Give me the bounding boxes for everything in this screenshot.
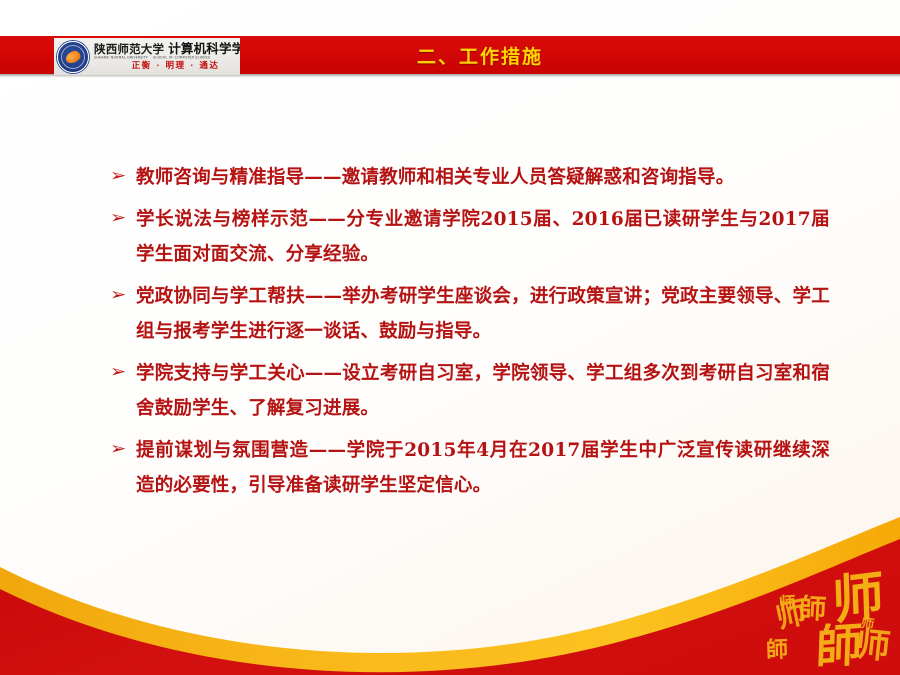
presentation-slide: 陕西师范大学 计算机科学学院 SHAANXI NORMAL UNIVERSITY…	[0, 0, 900, 675]
measure-text-3: 党政协同与学工帮扶——举办考研学生座谈会，进行政策宣讲；党政主要领导、学工组与报…	[136, 279, 830, 349]
university-name-en: SHAANXI NORMAL UNIVERSITY	[94, 56, 148, 60]
list-item: ➢ 教师咨询与精准指导——邀请教师和相关专业人员答疑解惑和咨询指导。	[110, 160, 830, 195]
measure-text-2: 学长说法与榜样示范——分专业邀请学院2015届、2016届已读研学生与2017届…	[136, 202, 830, 272]
calligraphy-char-2: 師	[798, 595, 826, 623]
list-item: ➢ 提前谋划与氛围营造——学院于2015年4月在2017届学生中广泛宣传读研继续…	[110, 433, 830, 503]
calligraphy-char-8: 师	[860, 617, 875, 632]
logo-motto: 正衡 · 明理 · 通达	[132, 62, 220, 71]
arrow-bullet-icon: ➢	[110, 202, 140, 234]
school-name-en: SCHOOL OF COMPUTER SCIENCE	[153, 56, 211, 60]
school-name-cn: 计算机科学学院	[168, 43, 240, 56]
calligraphy-char-7: 师	[773, 598, 809, 634]
institution-logo: 陕西师范大学 计算机科学学院 SHAANXI NORMAL UNIVERSITY…	[54, 38, 240, 75]
measure-text-5: 提前谋划与氛围营造——学院于2015年4月在2017届学生中广泛宣传读研继续深造…	[136, 433, 830, 503]
measure-text-1: 教师咨询与精准指导——邀请教师和相关专业人员答疑解惑和咨询指导。	[136, 160, 830, 195]
slide-title: 二、工作措施	[330, 42, 630, 69]
arrow-bullet-icon: ➢	[110, 279, 140, 311]
arrow-bullet-icon: ➢	[110, 356, 140, 388]
calligraphy-decoration: 师 師 师 師 师 師 师 师	[722, 555, 892, 675]
calligraphy-char-5: 师	[854, 627, 891, 664]
university-name-cn: 陕西师范大学	[94, 44, 164, 56]
logo-text-group: 陕西师范大学 计算机科学学院 SHAANXI NORMAL UNIVERSITY…	[94, 43, 240, 70]
measure-text-4: 学院支持与学工关心——设立考研自习室，学院领导、学工组多次到考研自习室和宿舍鼓励…	[136, 356, 830, 426]
measures-list: ➢ 教师咨询与精准指导——邀请教师和相关专业人员答疑解惑和咨询指导。 ➢ 学长说…	[110, 160, 830, 510]
university-crest-icon	[57, 41, 89, 73]
gold-wave-band	[0, 517, 900, 675]
logo-english-line: SHAANXI NORMAL UNIVERSITY SCHOOL OF COMP…	[94, 56, 240, 59]
arrow-bullet-icon: ➢	[110, 433, 140, 465]
calligraphy-char-6: 師	[766, 639, 789, 662]
calligraphy-char-3: 师	[778, 595, 796, 613]
list-item: ➢ 学长说法与榜样示范——分专业邀请学院2015届、2016届已读研学生与201…	[110, 202, 830, 272]
red-wave-body	[0, 539, 900, 675]
list-item: ➢ 学院支持与学工关心——设立考研自习室，学院领导、学工组多次到考研自习室和宿舍…	[110, 356, 830, 426]
logo-chinese-line: 陕西师范大学 计算机科学学院	[94, 43, 240, 56]
list-item: ➢ 党政协同与学工帮扶——举办考研学生座谈会，进行政策宣讲；党政主要领导、学工组…	[110, 279, 830, 349]
bottom-wave-decoration	[0, 515, 900, 675]
arrow-bullet-icon: ➢	[110, 160, 140, 192]
calligraphy-char-4: 師	[815, 621, 863, 670]
calligraphy-char-1: 师	[831, 570, 884, 629]
